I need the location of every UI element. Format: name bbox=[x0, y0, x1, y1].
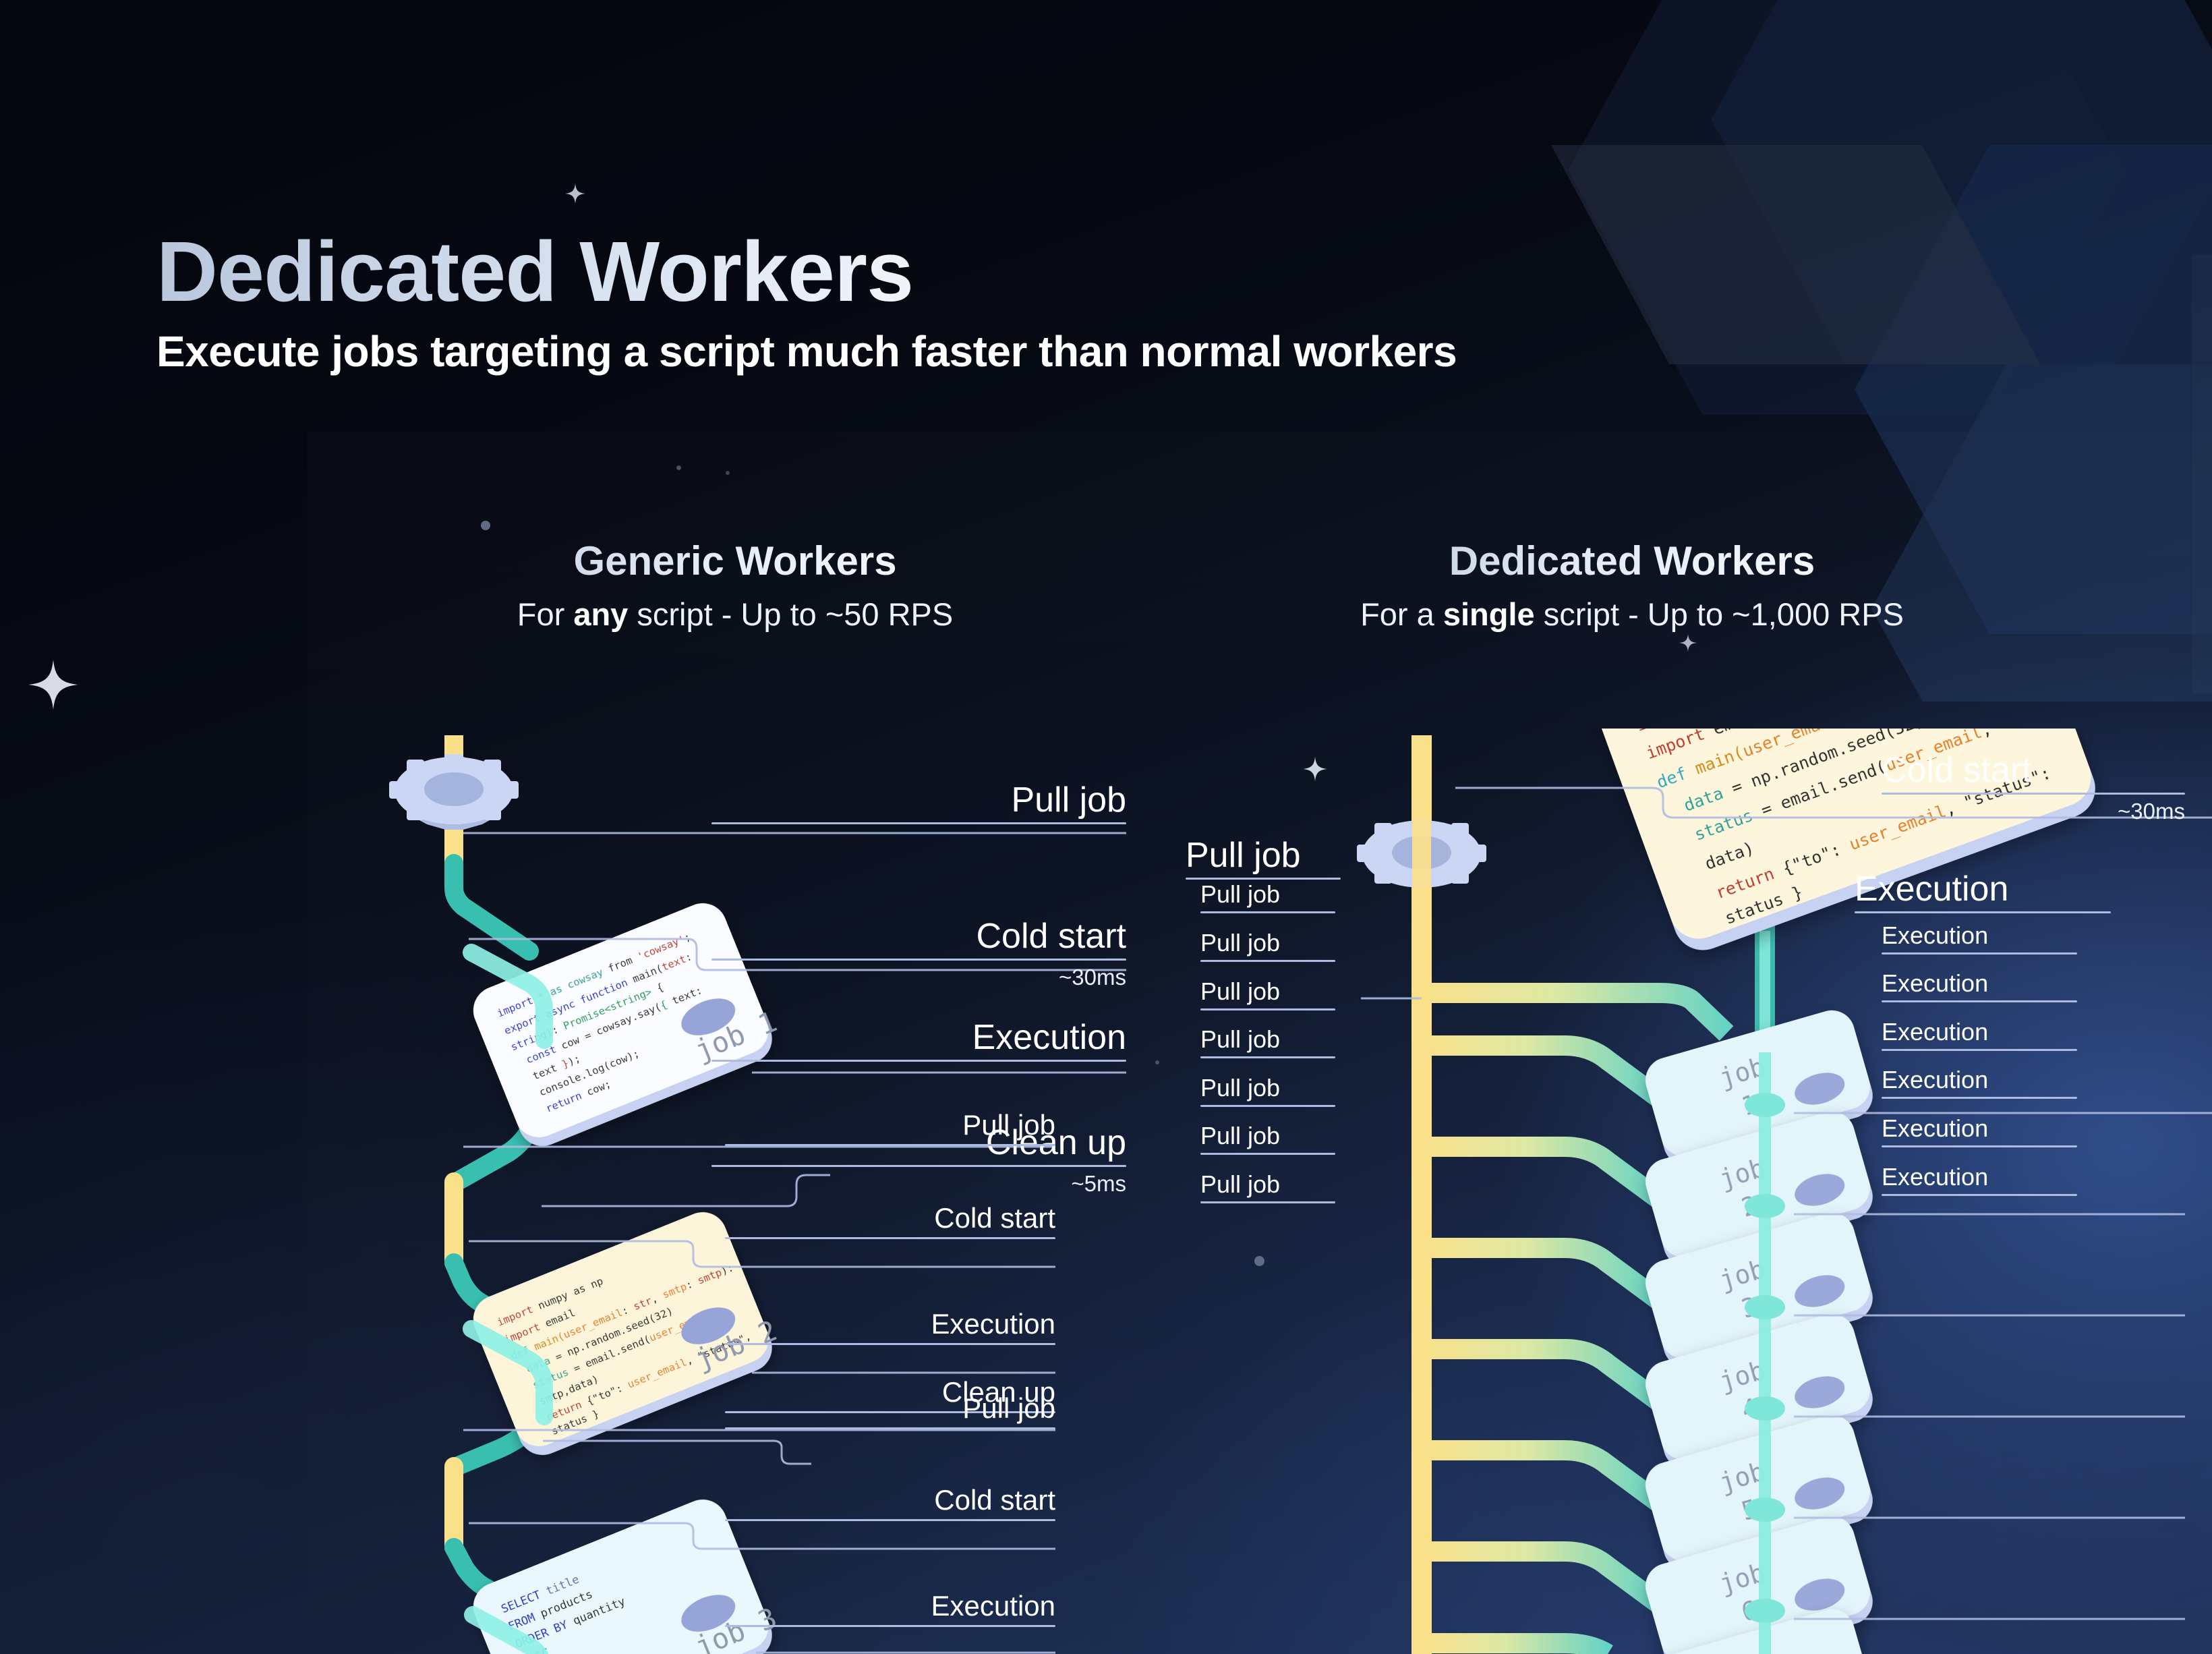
slide-canvas: Dedicated Workers Execute jobs targeting… bbox=[0, 0, 2212, 1654]
flow-label-pull-job: Pull job bbox=[1200, 1172, 1335, 1203]
dedicated-workers-diagram: import numpy as np import email def main… bbox=[1187, 729, 2212, 1654]
flow-label-pull-job: Pull job bbox=[1200, 1027, 1335, 1058]
gear-icon bbox=[1357, 796, 1486, 890]
flow-label-execution: Execution bbox=[1882, 923, 2077, 954]
gear-icon bbox=[389, 754, 519, 830]
sparkle-icon bbox=[28, 660, 78, 710]
flow-label-execution: Execution bbox=[1882, 1116, 2077, 1147]
flow-label-pull-job-main: Pull job bbox=[1186, 838, 1341, 880]
flow-label: Cold start bbox=[725, 1204, 1055, 1239]
flow-label: Pull job bbox=[725, 1111, 1055, 1146]
sparkle-icon bbox=[565, 183, 585, 204]
sparkle-icon bbox=[1679, 634, 1697, 652]
header: Dedicated Workers Execute jobs targeting… bbox=[156, 229, 1457, 376]
generic-workers-title: Generic Workers bbox=[310, 540, 1160, 582]
flow-label: Pull job bbox=[725, 1394, 1055, 1429]
flow-label-execution: Execution bbox=[1882, 1165, 2077, 1196]
flow-label-execution: Execution bbox=[1882, 1068, 2077, 1099]
column-header-dedicated: Dedicated Workers For a single script - … bbox=[1187, 540, 2077, 633]
flow-label-pull-job: Pull job bbox=[1200, 979, 1335, 1010]
flow-label-pull-job: Pull job bbox=[1200, 931, 1335, 962]
generic-workers-subtitle: For any script - Up to ~50 RPS bbox=[310, 596, 1160, 633]
decorative-dot bbox=[676, 465, 681, 470]
page-title: Dedicated Workers bbox=[156, 229, 1457, 314]
dedicated-workers-title: Dedicated Workers bbox=[1187, 540, 2077, 582]
page-subtitle: Execute jobs targeting a script much fas… bbox=[156, 326, 1457, 376]
flow-label: Cold start bbox=[725, 1486, 1055, 1521]
flow-label-execution: Execution bbox=[1882, 1020, 2077, 1051]
decorative-dot bbox=[481, 521, 490, 530]
flow-label: Cold start~30ms bbox=[711, 919, 1126, 988]
flow-label: Execution bbox=[725, 1592, 1055, 1627]
flow-label-pull-job: Pull job bbox=[1200, 1076, 1335, 1107]
flow-label-pull-job: Pull job bbox=[1200, 882, 1335, 913]
generic-workers-diagram: import * as cowsay from 'cowsay'; export… bbox=[307, 729, 1160, 1654]
flow-label-execution: Execution bbox=[1882, 971, 2077, 1002]
flow-label-pull-job: Pull job bbox=[1200, 1124, 1335, 1155]
flow-label: Execution bbox=[725, 1310, 1055, 1345]
flow-label: Execution bbox=[711, 1020, 1126, 1062]
flow-label: Pull job bbox=[711, 782, 1126, 824]
flow-label-cold-start: Cold start~30ms bbox=[1882, 753, 2185, 822]
decorative-dot bbox=[726, 471, 730, 475]
flow-label-execution: Execution bbox=[1855, 872, 2111, 913]
dedicated-workers-subtitle: For a single script - Up to ~1,000 RPS bbox=[1187, 596, 2077, 633]
column-header-generic: Generic Workers For any script - Up to ~… bbox=[310, 540, 1160, 633]
